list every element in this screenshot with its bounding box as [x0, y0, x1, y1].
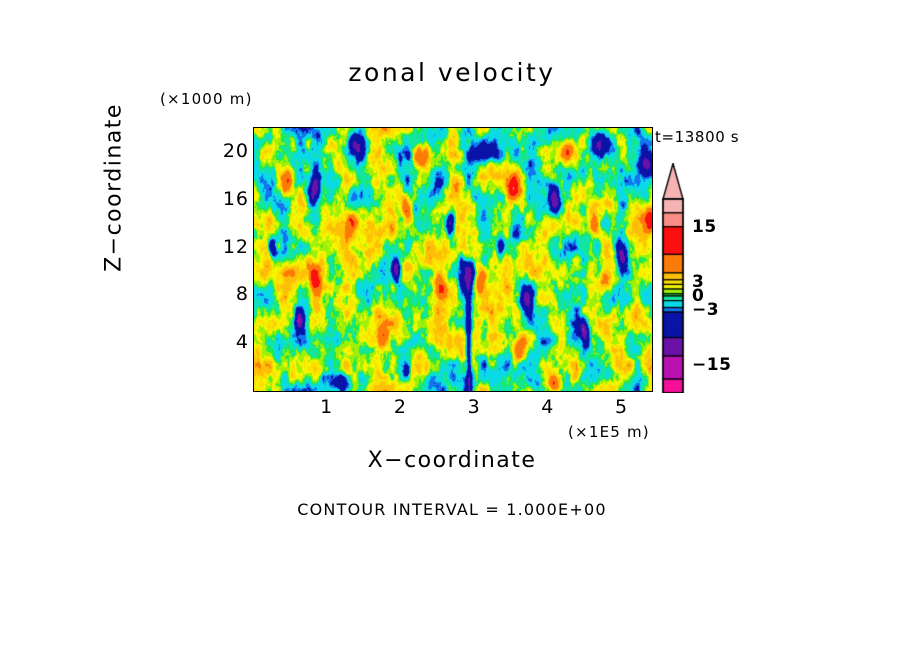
- colorbar-tick-15: 15: [692, 217, 717, 237]
- y-tick-4: 4: [189, 331, 249, 353]
- contour-plot-figure: zonal velocity (×1000 m) Z−coordinate 48…: [0, 0, 904, 654]
- x-tick-2: 2: [380, 396, 420, 418]
- page-title: zonal velocity: [0, 58, 904, 87]
- timestamp-label: t=13800 s: [655, 128, 739, 146]
- plot-area[interactable]: [253, 127, 653, 392]
- colorbar-tick-neg3: −3: [692, 300, 719, 320]
- y-tick-12: 12: [189, 236, 249, 258]
- contour-interval-note: CONTOUR INTERVAL = 1.000E+00: [0, 500, 904, 519]
- y-tick-16: 16: [189, 188, 249, 210]
- colorbar-tick-neg15: −15: [692, 355, 731, 375]
- contour-field-canvas: [254, 128, 652, 391]
- x-axis-label: X−coordinate: [253, 448, 651, 473]
- x-tick-3: 3: [454, 396, 494, 418]
- z-axis-unit-label: (×1000 m): [160, 90, 253, 108]
- y-tick-8: 8: [189, 283, 249, 305]
- x-axis-unit-label: (×1E5 m): [568, 423, 650, 441]
- y-tick-20: 20: [189, 140, 249, 162]
- x-tick-5: 5: [602, 396, 642, 418]
- y-axis-label: Z−coordinate: [102, 68, 127, 308]
- x-tick-1: 1: [307, 396, 347, 418]
- colorbar-legend: [661, 163, 685, 393]
- x-tick-4: 4: [528, 396, 568, 418]
